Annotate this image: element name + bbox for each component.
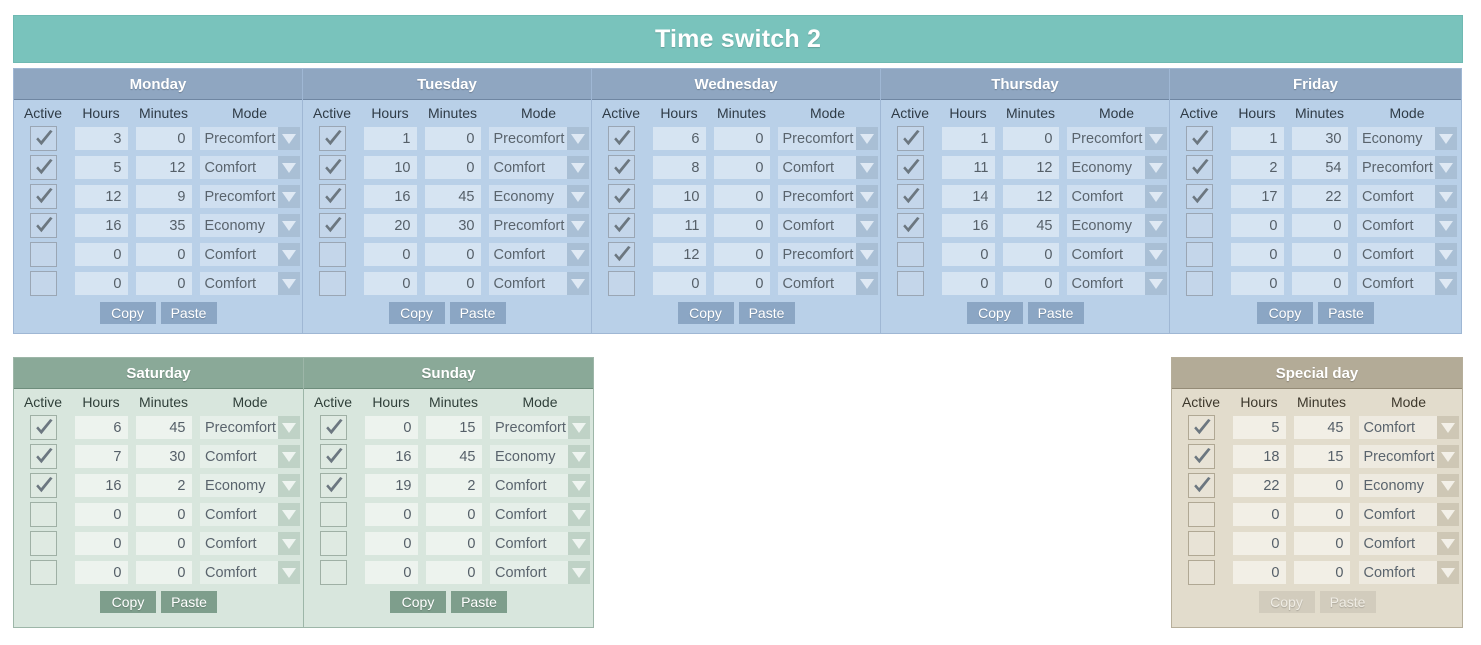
- minutes-input[interactable]: 0: [426, 503, 482, 526]
- active-checkbox[interactable]: [1188, 473, 1215, 498]
- mode-select[interactable]: Economy: [489, 185, 589, 208]
- schedule-row: 00Comfort: [1172, 500, 1462, 529]
- chevron-down-icon[interactable]: [568, 474, 590, 497]
- minutes-input[interactable]: 0: [136, 503, 192, 526]
- minutes-input[interactable]: 12: [1003, 156, 1059, 179]
- active-checkbox[interactable]: [1188, 415, 1215, 440]
- minutes-input[interactable]: 30: [1292, 127, 1348, 150]
- active-checkbox[interactable]: [319, 213, 346, 238]
- chevron-down-icon[interactable]: [1435, 214, 1457, 237]
- chevron-down-icon[interactable]: [1435, 156, 1457, 179]
- copy-button[interactable]: Copy: [1257, 302, 1313, 324]
- mode-select[interactable]: Precomfort: [778, 127, 878, 150]
- mode-select[interactable]: Comfort: [1067, 272, 1167, 295]
- chevron-down-icon[interactable]: [278, 503, 300, 526]
- minutes-input[interactable]: 0: [714, 127, 770, 150]
- hours-input[interactable]: 17: [1231, 185, 1284, 208]
- active-checkbox[interactable]: [319, 242, 346, 267]
- mode-select[interactable]: Comfort: [200, 156, 300, 179]
- minutes-input[interactable]: 0: [136, 532, 192, 555]
- hours-input[interactable]: 8: [653, 156, 706, 179]
- column-header-active: Active: [14, 105, 72, 121]
- active-checkbox[interactable]: [320, 560, 347, 585]
- active-cell: [303, 155, 361, 180]
- copy-paste-bar: CopyPaste: [14, 591, 303, 613]
- hours-cell: 6: [650, 127, 708, 150]
- minutes-input[interactable]: 2: [426, 474, 482, 497]
- active-checkbox[interactable]: [1188, 502, 1215, 527]
- hours-input[interactable]: 12: [75, 185, 128, 208]
- mode-select[interactable]: Precomfort: [778, 243, 878, 266]
- active-checkbox[interactable]: [1188, 560, 1215, 585]
- chevron-down-icon[interactable]: [567, 156, 589, 179]
- mode-select[interactable]: Precomfort: [1067, 127, 1167, 150]
- mode-select[interactable]: Comfort: [490, 532, 590, 555]
- mode-select[interactable]: Comfort: [490, 561, 590, 584]
- hours-input[interactable]: 0: [365, 416, 418, 439]
- chevron-down-icon[interactable]: [1437, 532, 1459, 555]
- chevron-down-icon[interactable]: [1435, 272, 1457, 295]
- hours-input[interactable]: 1: [942, 127, 995, 150]
- hours-cell: 0: [361, 243, 419, 266]
- mode-select[interactable]: Precomfort: [490, 416, 590, 439]
- mode-select[interactable]: Comfort: [200, 561, 300, 584]
- hours-input[interactable]: 11: [942, 156, 995, 179]
- column-header-hours: Hours: [72, 105, 130, 121]
- hours-input[interactable]: 0: [75, 503, 128, 526]
- minutes-input[interactable]: 30: [425, 214, 481, 237]
- hours-cell: 11: [650, 214, 708, 237]
- minutes-input[interactable]: 0: [1292, 272, 1348, 295]
- active-cell: [304, 415, 362, 440]
- hours-input[interactable]: 0: [1233, 532, 1286, 555]
- mode-select[interactable]: Comfort: [490, 503, 590, 526]
- hours-cell: 1: [939, 127, 997, 150]
- minutes-cell: 0: [420, 561, 487, 584]
- active-checkbox[interactable]: [897, 126, 924, 151]
- mode-select[interactable]: Comfort: [489, 272, 589, 295]
- active-checkbox[interactable]: [30, 560, 57, 585]
- hours-input[interactable]: 0: [75, 532, 128, 555]
- active-checkbox[interactable]: [608, 271, 635, 296]
- chevron-down-icon[interactable]: [278, 156, 300, 179]
- column-header-mode: Mode: [486, 105, 591, 121]
- mode-cell: Comfort: [1353, 272, 1461, 295]
- active-checkbox[interactable]: [897, 155, 924, 180]
- hours-input[interactable]: 5: [1233, 416, 1286, 439]
- mode-select[interactable]: Precomfort: [489, 127, 589, 150]
- chevron-down-icon[interactable]: [1145, 156, 1167, 179]
- hours-input[interactable]: 3: [75, 127, 128, 150]
- minutes-input[interactable]: 9: [136, 185, 192, 208]
- chevron-down-icon[interactable]: [1437, 445, 1459, 468]
- minutes-input[interactable]: 15: [426, 416, 482, 439]
- minutes-cell: 2: [130, 474, 197, 497]
- minutes-input[interactable]: 0: [136, 272, 192, 295]
- chevron-down-icon[interactable]: [1145, 127, 1167, 150]
- active-checkbox[interactable]: [608, 242, 635, 267]
- column-header-minutes: Minutes: [1286, 105, 1353, 121]
- chevron-down-icon[interactable]: [1145, 214, 1167, 237]
- hours-input[interactable]: 6: [653, 127, 706, 150]
- active-checkbox[interactable]: [608, 126, 635, 151]
- hours-input[interactable]: 10: [653, 185, 706, 208]
- active-checkbox[interactable]: [608, 213, 635, 238]
- hours-input[interactable]: 0: [365, 503, 418, 526]
- minutes-input[interactable]: 0: [1292, 214, 1348, 237]
- paste-button[interactable]: Paste: [451, 591, 507, 613]
- active-checkbox[interactable]: [320, 502, 347, 527]
- minutes-input[interactable]: 0: [136, 243, 192, 266]
- mode-select[interactable]: Precomfort: [778, 185, 878, 208]
- minutes-input[interactable]: 0: [1003, 243, 1059, 266]
- hours-input[interactable]: 12: [653, 243, 706, 266]
- copy-button[interactable]: Copy: [678, 302, 734, 324]
- hours-input[interactable]: 0: [365, 532, 418, 555]
- hours-input[interactable]: 0: [364, 243, 417, 266]
- chevron-down-icon[interactable]: [856, 243, 878, 266]
- hours-input[interactable]: 2: [1231, 156, 1284, 179]
- chevron-down-icon[interactable]: [278, 532, 300, 555]
- chevron-down-icon[interactable]: [278, 272, 300, 295]
- minutes-input[interactable]: 0: [714, 185, 770, 208]
- schedule-row: 00Comfort: [1170, 240, 1461, 269]
- minutes-cell: 0: [708, 185, 775, 208]
- mode-select[interactable]: Comfort: [778, 156, 878, 179]
- active-checkbox[interactable]: [319, 126, 346, 151]
- paste-button[interactable]: Paste: [1028, 302, 1084, 324]
- chevron-down-icon[interactable]: [278, 127, 300, 150]
- mode-select[interactable]: Comfort: [200, 445, 300, 468]
- hours-input[interactable]: 0: [653, 272, 706, 295]
- mode-cell: Comfort: [1064, 272, 1169, 295]
- chevron-down-icon[interactable]: [1437, 474, 1459, 497]
- mode-select[interactable]: Comfort: [1359, 532, 1459, 555]
- mode-select[interactable]: Precomfort: [200, 416, 300, 439]
- hours-input[interactable]: 18: [1233, 445, 1286, 468]
- active-checkbox[interactable]: [30, 242, 57, 267]
- hours-input[interactable]: 16: [365, 445, 418, 468]
- mode-select[interactable]: Economy: [1359, 474, 1459, 497]
- chevron-down-icon[interactable]: [567, 185, 589, 208]
- copy-button[interactable]: Copy: [100, 302, 156, 324]
- minutes-input[interactable]: 0: [426, 532, 482, 555]
- chevron-down-icon[interactable]: [1437, 416, 1459, 439]
- hours-input[interactable]: 5: [75, 156, 128, 179]
- chevron-down-icon[interactable]: [567, 272, 589, 295]
- chevron-down-icon[interactable]: [856, 272, 878, 295]
- active-cell: [14, 184, 72, 209]
- mode-select[interactable]: Comfort: [1357, 272, 1457, 295]
- active-checkbox[interactable]: [897, 213, 924, 238]
- hours-input[interactable]: 0: [942, 272, 995, 295]
- mode-cell: Precomfort: [1353, 156, 1461, 179]
- mode-select[interactable]: Comfort: [200, 272, 300, 295]
- chevron-down-icon[interactable]: [568, 532, 590, 555]
- mode-cell: Precomfort: [1064, 127, 1169, 150]
- active-checkbox[interactable]: [1188, 531, 1215, 556]
- minutes-input[interactable]: 45: [426, 445, 482, 468]
- chevron-down-icon[interactable]: [278, 561, 300, 584]
- hours-input[interactable]: 1: [1231, 127, 1284, 150]
- active-checkbox[interactable]: [1186, 126, 1213, 151]
- active-checkbox[interactable]: [1186, 242, 1213, 267]
- minutes-input[interactable]: 0: [425, 127, 481, 150]
- hours-input[interactable]: 16: [942, 214, 995, 237]
- mode-select-value: Economy: [1357, 127, 1435, 150]
- hours-input[interactable]: 0: [1231, 214, 1284, 237]
- active-checkbox[interactable]: [30, 473, 57, 498]
- mode-select[interactable]: Economy: [200, 214, 300, 237]
- active-checkbox[interactable]: [30, 155, 57, 180]
- mode-cell: Economy: [1064, 214, 1169, 237]
- mode-select[interactable]: Comfort: [200, 243, 300, 266]
- minutes-input[interactable]: 0: [714, 243, 770, 266]
- mode-select[interactable]: Comfort: [1359, 561, 1459, 584]
- chevron-down-icon[interactable]: [568, 503, 590, 526]
- active-checkbox[interactable]: [319, 155, 346, 180]
- chevron-down-icon[interactable]: [567, 214, 589, 237]
- paste-button[interactable]: Paste: [161, 302, 217, 324]
- minutes-input[interactable]: 0: [136, 561, 192, 584]
- minutes-input[interactable]: 2: [136, 474, 192, 497]
- mode-select[interactable]: Comfort: [489, 243, 589, 266]
- mode-select[interactable]: Comfort: [1357, 214, 1457, 237]
- minutes-input[interactable]: 0: [714, 214, 770, 237]
- active-checkbox[interactable]: [608, 155, 635, 180]
- mode-select[interactable]: Economy: [1067, 156, 1167, 179]
- active-checkbox[interactable]: [897, 242, 924, 267]
- active-cell: [1170, 242, 1228, 267]
- copy-button[interactable]: Copy: [100, 591, 156, 613]
- minutes-cell: 0: [130, 503, 197, 526]
- active-checkbox[interactable]: [320, 473, 347, 498]
- hours-input[interactable]: 0: [942, 243, 995, 266]
- chevron-down-icon[interactable]: [1437, 561, 1459, 584]
- minutes-input[interactable]: 0: [1294, 503, 1350, 526]
- active-checkbox[interactable]: [1186, 271, 1213, 296]
- mode-select-value: Comfort: [200, 561, 278, 584]
- mode-select[interactable]: Comfort: [490, 474, 590, 497]
- mode-cell: Comfort: [486, 156, 591, 179]
- copy-button[interactable]: Copy: [967, 302, 1023, 324]
- hours-input[interactable]: 0: [75, 561, 128, 584]
- hours-input[interactable]: 0: [364, 272, 417, 295]
- minutes-input[interactable]: 0: [425, 243, 481, 266]
- minutes-input[interactable]: 45: [425, 185, 481, 208]
- mode-select[interactable]: Economy: [1357, 127, 1457, 150]
- chevron-down-icon[interactable]: [568, 561, 590, 584]
- minutes-input[interactable]: 0: [425, 156, 481, 179]
- active-checkbox[interactable]: [30, 271, 57, 296]
- minutes-input[interactable]: 12: [136, 156, 192, 179]
- chevron-down-icon[interactable]: [856, 214, 878, 237]
- hours-input[interactable]: 0: [75, 272, 128, 295]
- mode-select[interactable]: Economy: [200, 474, 300, 497]
- hours-input[interactable]: 0: [1233, 561, 1286, 584]
- chevron-down-icon[interactable]: [278, 214, 300, 237]
- minutes-input[interactable]: 0: [1294, 532, 1350, 555]
- active-cell: [1172, 444, 1230, 469]
- mode-select[interactable]: Precomfort: [1357, 156, 1457, 179]
- active-cell: [1170, 126, 1228, 151]
- chevron-down-icon[interactable]: [856, 185, 878, 208]
- mode-select[interactable]: Comfort: [1357, 243, 1457, 266]
- mode-select[interactable]: Precomfort: [200, 127, 300, 150]
- mode-select[interactable]: Comfort: [1357, 185, 1457, 208]
- day-header: Wednesday: [592, 69, 880, 100]
- minutes-input[interactable]: 15: [1294, 445, 1350, 468]
- minutes-cell: 0: [997, 243, 1064, 266]
- hours-input[interactable]: 0: [1231, 243, 1284, 266]
- mode-select[interactable]: Economy: [490, 445, 590, 468]
- hours-cell: 10: [650, 185, 708, 208]
- day-panel: SundayActiveHoursMinutesMode015Precomfor…: [303, 357, 594, 628]
- chevron-down-icon[interactable]: [567, 127, 589, 150]
- hours-input[interactable]: 7: [75, 445, 128, 468]
- hours-input[interactable]: 16: [75, 214, 128, 237]
- minutes-input[interactable]: 0: [1003, 272, 1059, 295]
- mode-select-value: Comfort: [1357, 272, 1435, 295]
- mode-select[interactable]: Comfort: [1359, 503, 1459, 526]
- active-checkbox[interactable]: [319, 271, 346, 296]
- hours-input[interactable]: 16: [364, 185, 417, 208]
- paste-button[interactable]: Paste: [450, 302, 506, 324]
- chevron-down-icon[interactable]: [568, 416, 590, 439]
- mode-select[interactable]: Economy: [1067, 214, 1167, 237]
- active-cell: [881, 213, 939, 238]
- day-panel: FridayActiveHoursMinutesMode130Economy25…: [1169, 68, 1462, 334]
- chevron-down-icon[interactable]: [856, 127, 878, 150]
- chevron-down-icon[interactable]: [278, 474, 300, 497]
- hours-cell: 18: [1230, 445, 1288, 468]
- minutes-input[interactable]: 45: [136, 416, 192, 439]
- paste-button[interactable]: Paste: [739, 302, 795, 324]
- hours-input[interactable]: 0: [1233, 503, 1286, 526]
- active-checkbox[interactable]: [320, 415, 347, 440]
- chevron-down-icon[interactable]: [1435, 127, 1457, 150]
- active-checkbox[interactable]: [1186, 213, 1213, 238]
- minutes-input[interactable]: 0: [136, 127, 192, 150]
- chevron-down-icon[interactable]: [1145, 272, 1167, 295]
- minutes-cell: 12: [997, 185, 1064, 208]
- mode-select[interactable]: Comfort: [1359, 416, 1459, 439]
- hours-cell: 14: [939, 185, 997, 208]
- chevron-down-icon[interactable]: [278, 185, 300, 208]
- hours-input[interactable]: 0: [1231, 272, 1284, 295]
- active-checkbox[interactable]: [320, 444, 347, 469]
- copy-paste-bar: CopyPaste: [1170, 302, 1461, 324]
- mode-select[interactable]: Comfort: [778, 272, 878, 295]
- active-checkbox[interactable]: [608, 184, 635, 209]
- minutes-input[interactable]: 0: [714, 156, 770, 179]
- minutes-cell: 0: [419, 156, 486, 179]
- active-cell: [881, 184, 939, 209]
- hours-input[interactable]: 19: [365, 474, 418, 497]
- minutes-input[interactable]: 0: [1292, 243, 1348, 266]
- minutes-input[interactable]: 54: [1292, 156, 1348, 179]
- minutes-input[interactable]: 0: [1003, 127, 1059, 150]
- chevron-down-icon[interactable]: [1435, 185, 1457, 208]
- paste-button[interactable]: Paste: [1318, 302, 1374, 324]
- chevron-down-icon[interactable]: [1145, 243, 1167, 266]
- mode-select[interactable]: Precomfort: [1359, 445, 1459, 468]
- active-checkbox[interactable]: [1186, 184, 1213, 209]
- minutes-input[interactable]: 35: [136, 214, 192, 237]
- chevron-down-icon[interactable]: [278, 243, 300, 266]
- minutes-input[interactable]: 0: [1294, 474, 1350, 497]
- chevron-down-icon[interactable]: [1435, 243, 1457, 266]
- active-checkbox[interactable]: [320, 531, 347, 556]
- chevron-down-icon[interactable]: [568, 445, 590, 468]
- mode-select[interactable]: Comfort: [778, 214, 878, 237]
- paste-button[interactable]: Paste: [161, 591, 217, 613]
- hours-input[interactable]: 22: [1233, 474, 1286, 497]
- mode-select[interactable]: Precomfort: [489, 214, 589, 237]
- chevron-down-icon[interactable]: [278, 416, 300, 439]
- minutes-input[interactable]: 0: [426, 561, 482, 584]
- mode-select[interactable]: Comfort: [1067, 243, 1167, 266]
- minutes-input[interactable]: 30: [136, 445, 192, 468]
- mode-select[interactable]: Comfort: [1067, 185, 1167, 208]
- chevron-down-icon[interactable]: [1145, 185, 1167, 208]
- active-checkbox[interactable]: [30, 502, 57, 527]
- hours-input[interactable]: 11: [653, 214, 706, 237]
- copy-button[interactable]: Copy: [390, 591, 446, 613]
- hours-input[interactable]: 1: [364, 127, 417, 150]
- hours-input[interactable]: 0: [365, 561, 418, 584]
- active-checkbox[interactable]: [30, 415, 57, 440]
- active-checkbox[interactable]: [30, 444, 57, 469]
- active-checkbox[interactable]: [30, 213, 57, 238]
- hours-input[interactable]: 14: [942, 185, 995, 208]
- hours-input[interactable]: 0: [75, 243, 128, 266]
- minutes-input[interactable]: 22: [1292, 185, 1348, 208]
- minutes-input[interactable]: 0: [425, 272, 481, 295]
- active-checkbox[interactable]: [30, 184, 57, 209]
- mode-select[interactable]: Comfort: [200, 532, 300, 555]
- hours-input[interactable]: 16: [75, 474, 128, 497]
- hours-cell: 0: [72, 503, 130, 526]
- active-checkbox[interactable]: [319, 184, 346, 209]
- chevron-down-icon[interactable]: [567, 243, 589, 266]
- hours-input[interactable]: 6: [75, 416, 128, 439]
- column-header-active: Active: [881, 105, 939, 121]
- active-checkbox[interactable]: [1188, 444, 1215, 469]
- minutes-input[interactable]: 0: [714, 272, 770, 295]
- mode-select[interactable]: Comfort: [200, 503, 300, 526]
- copy-button[interactable]: Copy: [389, 302, 445, 324]
- mode-select[interactable]: Comfort: [489, 156, 589, 179]
- schedule-row: 1722Comfort: [1170, 182, 1461, 211]
- active-checkbox[interactable]: [30, 531, 57, 556]
- mode-select[interactable]: Precomfort: [200, 185, 300, 208]
- active-checkbox[interactable]: [897, 271, 924, 296]
- active-checkbox[interactable]: [1186, 155, 1213, 180]
- hours-input[interactable]: 10: [364, 156, 417, 179]
- active-checkbox[interactable]: [897, 184, 924, 209]
- minutes-input[interactable]: 0: [1294, 561, 1350, 584]
- chevron-down-icon[interactable]: [278, 445, 300, 468]
- chevron-down-icon[interactable]: [856, 156, 878, 179]
- hours-input[interactable]: 20: [364, 214, 417, 237]
- mode-cell: Comfort: [197, 532, 303, 555]
- minutes-input[interactable]: 45: [1294, 416, 1350, 439]
- active-checkbox[interactable]: [30, 126, 57, 151]
- minutes-input[interactable]: 45: [1003, 214, 1059, 237]
- minutes-input[interactable]: 12: [1003, 185, 1059, 208]
- chevron-down-icon[interactable]: [1437, 503, 1459, 526]
